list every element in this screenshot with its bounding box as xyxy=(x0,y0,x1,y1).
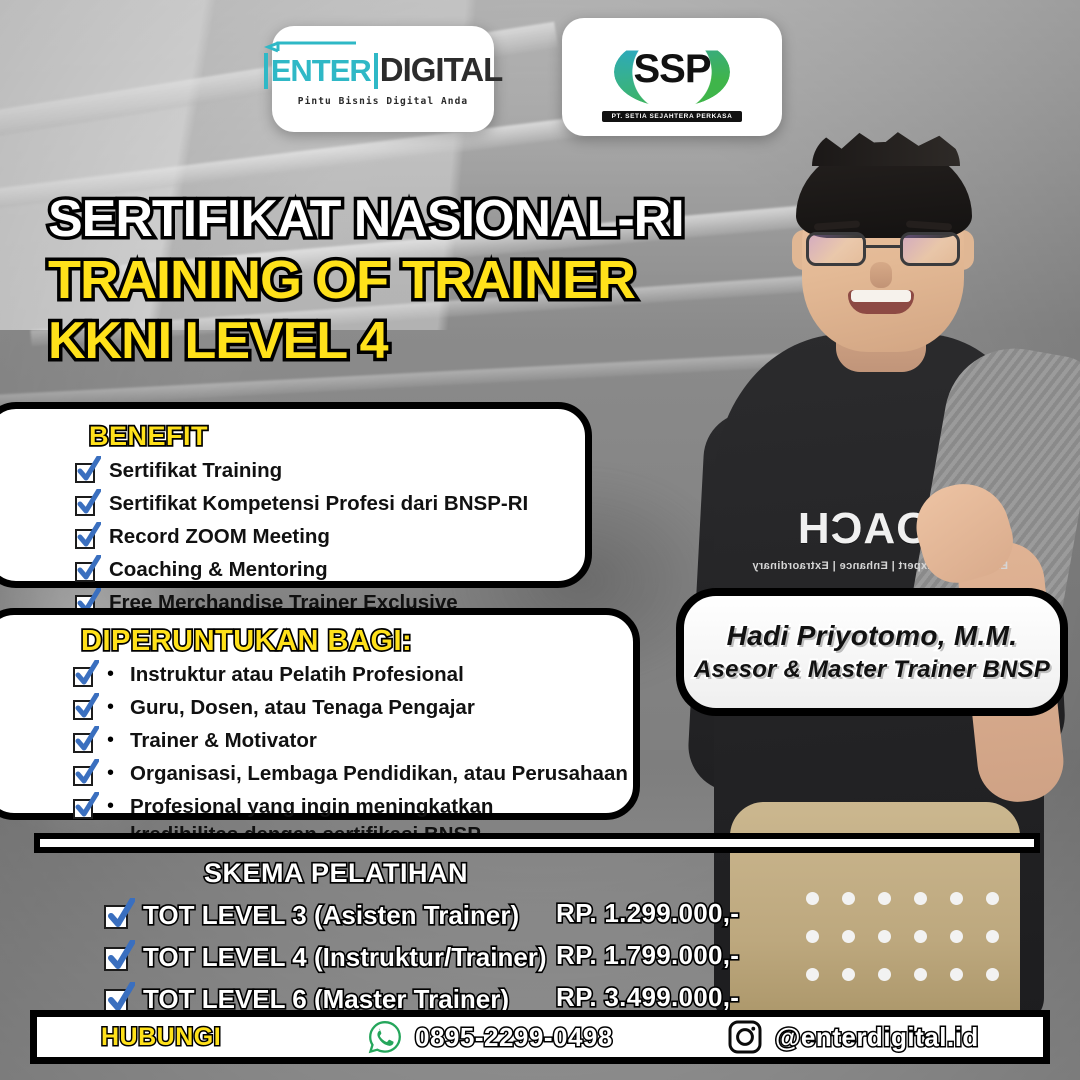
headline-line-2: TRAINING OF TRAINER xyxy=(48,252,768,308)
glasses-bridge xyxy=(866,245,900,248)
checkbox-checked-icon xyxy=(75,459,99,487)
logo-ssp: SSP PT. SETIA SEJAHTERA PERKASA xyxy=(562,18,782,136)
target-audience-list: • Instruktur atau Pelatih Profesional • … xyxy=(73,661,628,853)
skema-level-label: TOT LEVEL 3 (Asisten Trainer) xyxy=(143,900,519,931)
arrow-left-icon xyxy=(264,41,356,53)
instagram-icon[interactable] xyxy=(727,1019,763,1055)
list-item-label: Instruktur atau Pelatih Profesional xyxy=(130,661,464,689)
bullet-icon: • xyxy=(107,727,114,755)
skema-row: TOT LEVEL 4 (Instruktur/Trainer) xyxy=(104,938,547,976)
ssp-company-bar: PT. SETIA SEJAHTERA PERKASA xyxy=(602,111,743,122)
trainer-nose xyxy=(870,262,892,288)
list-item: Record ZOOM Meeting xyxy=(75,523,528,553)
skema-title: SKEMA PELATIHAN xyxy=(106,858,566,889)
benefit-list: Sertifikat Training Sertifikat Kompetens… xyxy=(75,457,528,622)
checkbox-checked-icon xyxy=(75,525,99,553)
benefit-box: BENEFIT Sertifikat Training Sertifikat K… xyxy=(0,402,592,588)
bullet-icon: • xyxy=(107,694,114,722)
enter-word: ENTER xyxy=(264,53,378,89)
list-item: Coaching & Mentoring xyxy=(75,556,528,586)
bullet-icon: • xyxy=(107,793,114,821)
list-item-label: Sertifikat Training xyxy=(109,457,282,485)
target-audience-title: DIPERUNTUKAN BAGI: xyxy=(81,625,412,658)
whatsapp-icon[interactable] xyxy=(367,1019,403,1055)
list-item-label: Coaching & Mentoring xyxy=(109,556,328,584)
glasses-lens-right xyxy=(900,232,960,266)
enter-digital-tagline: Pintu Bisnis Digital Anda xyxy=(298,96,469,107)
whatsapp-number[interactable]: 0895-2299-0498 xyxy=(415,1022,613,1053)
digital-word: DIGITAL xyxy=(380,51,503,89)
ssp-mark: SSP xyxy=(610,33,734,107)
list-item-label: Sertifikat Kompetensi Profesi dari BNSP-… xyxy=(109,490,528,518)
checkbox-checked-icon xyxy=(73,663,97,691)
speaker-name-badge: Hadi Priyotomo, M.M. Asesor & Master Tra… xyxy=(676,588,1068,716)
instagram-handle[interactable]: @enterdigital.id xyxy=(775,1022,979,1053)
bullet-icon: • xyxy=(107,661,114,689)
headline-line-3: KKNI LEVEL 4 xyxy=(48,314,768,368)
speaker-role: Asesor & Master Trainer BNSP xyxy=(694,656,1050,684)
benefit-title: BENEFIT xyxy=(89,421,208,452)
headline-block: SERTIFIKAT NASIONAL-RI TRAINING OF TRAIN… xyxy=(48,192,768,368)
speaker-name: Hadi Priyotomo, M.M. xyxy=(727,620,1018,652)
whatsapp-contact[interactable]: 0895-2299-0498 xyxy=(367,1019,613,1055)
instagram-contact[interactable]: @enterdigital.id xyxy=(727,1019,979,1055)
list-item-label: Guru, Dosen, atau Tenaga Pengajar xyxy=(130,694,475,722)
list-item-label: Organisasi, Lembaga Pendidikan, atau Per… xyxy=(130,760,628,788)
list-item: Sertifikat Kompetensi Profesi dari BNSP-… xyxy=(75,490,528,520)
list-item: • Organisasi, Lembaga Pendidikan, atau P… xyxy=(73,760,628,790)
bullet-icon: • xyxy=(107,760,114,788)
skema-row: TOT LEVEL 3 (Asisten Trainer) xyxy=(104,896,547,934)
ssp-letters: SSP xyxy=(610,33,734,107)
skema-price-column: RP. 1.299.000,- RP. 1.799.000,- RP. 3.49… xyxy=(556,898,739,1024)
checkbox-checked-icon xyxy=(73,729,97,757)
skema-price: RP. 1.299.000,- xyxy=(556,898,739,936)
poster-root: COACH Experience | Expert | Enhance | Ex… xyxy=(0,0,1080,1080)
list-item: Sertifikat Training xyxy=(75,457,528,487)
contact-bar: HUBUNGI 0895-2299-0498 @enterdigital.id xyxy=(30,1010,1050,1064)
checkbox-checked-icon xyxy=(73,696,97,724)
skema-list: TOT LEVEL 3 (Asisten Trainer) TOT LEVEL … xyxy=(104,896,547,1022)
checkbox-checked-icon xyxy=(75,558,99,586)
checkbox-checked-icon xyxy=(104,942,134,972)
contact-label: HUBUNGI xyxy=(101,1023,221,1052)
skema-price: RP. 1.799.000,- xyxy=(556,940,739,978)
skema-level-label: TOT LEVEL 4 (Instruktur/Trainer) xyxy=(143,942,547,973)
section-divider xyxy=(34,833,1040,853)
glasses-lens-left xyxy=(806,232,866,266)
list-item: • Instruktur atau Pelatih Profesional xyxy=(73,661,628,691)
list-item-label: Trainer & Motivator xyxy=(130,727,317,755)
trainer-mouth xyxy=(848,290,914,314)
logo-enter-digital: ENTER DIGITAL Pintu Bisnis Digital Anda xyxy=(272,26,494,132)
checkbox-checked-icon xyxy=(73,795,97,823)
headline-line-1: SERTIFIKAT NASIONAL-RI xyxy=(48,192,768,246)
enter-digital-wordmark: ENTER DIGITAL xyxy=(264,51,503,89)
target-audience-box: DIPERUNTUKAN BAGI: • Instruktur atau Pel… xyxy=(0,608,640,820)
list-item: • Trainer & Motivator xyxy=(73,727,628,757)
checkbox-checked-icon xyxy=(73,762,97,790)
list-item: • Guru, Dosen, atau Tenaga Pengajar xyxy=(73,694,628,724)
checkbox-checked-icon xyxy=(75,492,99,520)
dot-grid-decoration xyxy=(806,892,1022,1006)
list-item-label: Record ZOOM Meeting xyxy=(109,523,330,551)
checkbox-checked-icon xyxy=(104,900,134,930)
